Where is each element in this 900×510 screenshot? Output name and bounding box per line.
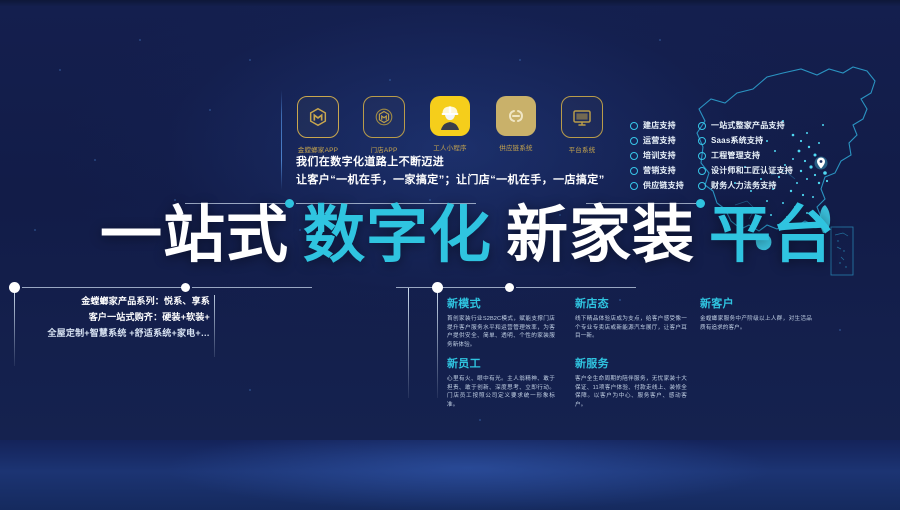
feature-body: 客户全生命周期的陪伴服务，无忧家装十大保证、11项客户体验、付款走线上、装修全保… <box>575 375 687 409</box>
divider-rule-left <box>14 288 15 366</box>
support-item: 财务人力法务支持 <box>698 180 793 191</box>
bullet-icon <box>630 137 638 145</box>
feature-title: 新模式 <box>447 295 555 311</box>
product-series-block: 金螳螂家产品系列：悦系、享系 客户一站式购齐：硬装+软装+ 全屋定制+智慧系统 … <box>20 293 210 341</box>
background-bottom-band <box>0 440 900 510</box>
banner-stage: 金螳螂家APP 门店APP <box>0 0 900 510</box>
feature-card-new-service: 新服务 客户全生命周期的陪伴服务，无忧家装十大保证、11项客户体验、付款走线上、… <box>575 355 687 409</box>
slogan-block: 我们在数字化道路上不断迈进 让客户“一机在手，一家搞定”；让门店“一机在手，一店… <box>296 155 605 188</box>
headline-deco-dot-bottom-right <box>505 283 514 292</box>
product-block-rule <box>214 295 215 357</box>
feature-card-new-customer: 新客户 金螳螂家服务中产阶级以上人群，对生活品质有追求的客户。 <box>700 295 812 332</box>
support-label: 工程管理支持 <box>711 150 760 161</box>
support-item: 供应链支持 <box>630 180 684 191</box>
support-column-right: 一站式整家产品支持 Saas系统支持 工程管理支持 设计师和工匠认证支持 财务人… <box>698 120 793 195</box>
headline-deco-line-bottom-right <box>396 287 506 288</box>
monitor-icon <box>561 96 603 138</box>
slogan-line-2: 让客户“一机在手，一家搞定”；让门店“一机在手，一店搞定” <box>296 173 605 188</box>
support-label: 设计师和工匠认证支持 <box>711 165 793 176</box>
app-icon-row: 金螳螂家APP 门店APP <box>296 96 604 154</box>
headline-part-2: 新家装 <box>506 205 695 267</box>
feature-title: 新店态 <box>575 295 687 311</box>
feature-card-new-model: 新模式 首创家装行业S2B2C模式，赋能支撑门店提升客户服务水平和运营管理效率，… <box>447 295 555 349</box>
bullet-icon <box>698 182 706 190</box>
divider-rule-mid <box>408 288 409 398</box>
app-label-4: 平台系统 <box>569 144 596 154</box>
accent-rule-left <box>281 90 282 190</box>
feature-title: 新员工 <box>447 355 555 371</box>
bullet-icon <box>630 182 638 190</box>
feature-body: 金螳螂家服务中产阶级以上人群，对生活品质有追求的客户。 <box>700 315 812 332</box>
divider-rule-right <box>437 288 438 398</box>
headline-part-3: 平台 <box>709 205 835 267</box>
support-item: 建店支持 <box>630 120 684 131</box>
feature-card-new-store: 新店态 线下精品体验店成为支点，给客户感受像一个专业专卖店或新能源汽车展厅，让客… <box>575 295 687 341</box>
bullet-icon <box>630 122 638 130</box>
feature-body: 首创家装行业S2B2C模式，赋能支撑门店提升客户服务水平和运营管理效率，为客户提… <box>447 315 555 349</box>
store-cube-icon <box>363 96 405 138</box>
feature-card-new-employee: 新员工 心里有火、眼中有光。主人翁精神、敢于担责、敢于创新、深度思考、立即行动。… <box>447 355 555 409</box>
divider-dot-right <box>432 282 443 293</box>
app-label-3: 供应链系统 <box>499 142 533 152</box>
headline-part-1: 数字化 <box>303 205 492 267</box>
support-item: 工程管理支持 <box>698 150 793 161</box>
chain-link-icon <box>496 96 536 136</box>
worker-helmet-icon <box>430 96 470 136</box>
support-label: 建店支持 <box>643 120 676 131</box>
support-lists: 建店支持 运营支持 培训支持 营销支持 供应链支持 一站式整家产品支持 Saas… <box>630 120 793 195</box>
product-line-2: 客户一站式购齐：硬装+软装+ <box>20 309 210 325</box>
bullet-icon <box>698 137 706 145</box>
slogan-line-1: 我们在数字化道路上不断迈进 <box>296 155 605 170</box>
headline-deco-dot-bottom-left <box>181 283 190 292</box>
support-item: Saas系统支持 <box>698 135 793 146</box>
headline-deco-line-bottom-mid <box>192 287 312 288</box>
support-item: 一站式整家产品支持 <box>698 120 793 131</box>
app-label-2: 工人小程序 <box>433 142 467 152</box>
support-item: 培训支持 <box>630 150 684 161</box>
product-line-1: 金螳螂家产品系列：悦系、享系 <box>20 293 210 309</box>
feature-title: 新服务 <box>575 355 687 371</box>
page-title: 一站式 数字化 新家装 平台 <box>100 205 835 267</box>
app-label-1: 门店APP <box>370 144 397 154</box>
support-label: Saas系统支持 <box>711 135 763 146</box>
bullet-icon <box>630 167 638 175</box>
bullet-icon <box>698 167 706 175</box>
app-item-0[interactable]: 金螳螂家APP <box>296 96 340 154</box>
bullet-icon <box>698 122 706 130</box>
headline-deco-line-bottom-left <box>22 287 182 288</box>
support-label: 运营支持 <box>643 135 676 146</box>
bullet-icon <box>630 152 638 160</box>
cube-logo-icon <box>297 96 339 138</box>
support-label: 一站式整家产品支持 <box>711 120 785 131</box>
divider-dot-left <box>9 282 20 293</box>
support-label: 培训支持 <box>643 150 676 161</box>
headline-deco-line-bottom-far-right <box>516 287 636 288</box>
bullet-icon <box>698 152 706 160</box>
app-item-1[interactable]: 门店APP <box>362 96 406 154</box>
headline-part-0: 一站式 <box>100 205 289 267</box>
feature-body: 线下精品体验店成为支点，给客户感受像一个专业专卖店或新能源汽车展厅，让客户耳目一… <box>575 315 687 341</box>
support-label: 财务人力法务支持 <box>711 180 777 191</box>
support-item: 运营支持 <box>630 135 684 146</box>
support-item: 设计师和工匠认证支持 <box>698 165 793 176</box>
feature-body: 心里有火、眼中有光。主人翁精神、敢于担责、敢于创新、深度思考、立即行动。门店员工… <box>447 375 555 409</box>
support-label: 营销支持 <box>643 165 676 176</box>
support-label: 供应链支持 <box>643 180 684 191</box>
app-label-0: 金螳螂家APP <box>298 144 338 154</box>
app-item-4[interactable]: 平台系统 <box>560 96 604 154</box>
support-column-left: 建店支持 运营支持 培训支持 营销支持 供应链支持 <box>630 120 684 195</box>
product-line-3: 全屋定制+智慧系统 +舒适系统+家电+… <box>20 325 210 341</box>
app-item-3[interactable]: 供应链系统 <box>494 96 538 154</box>
app-item-2[interactable]: 工人小程序 <box>428 96 472 154</box>
feature-title: 新客户 <box>700 295 812 311</box>
support-item: 营销支持 <box>630 165 684 176</box>
